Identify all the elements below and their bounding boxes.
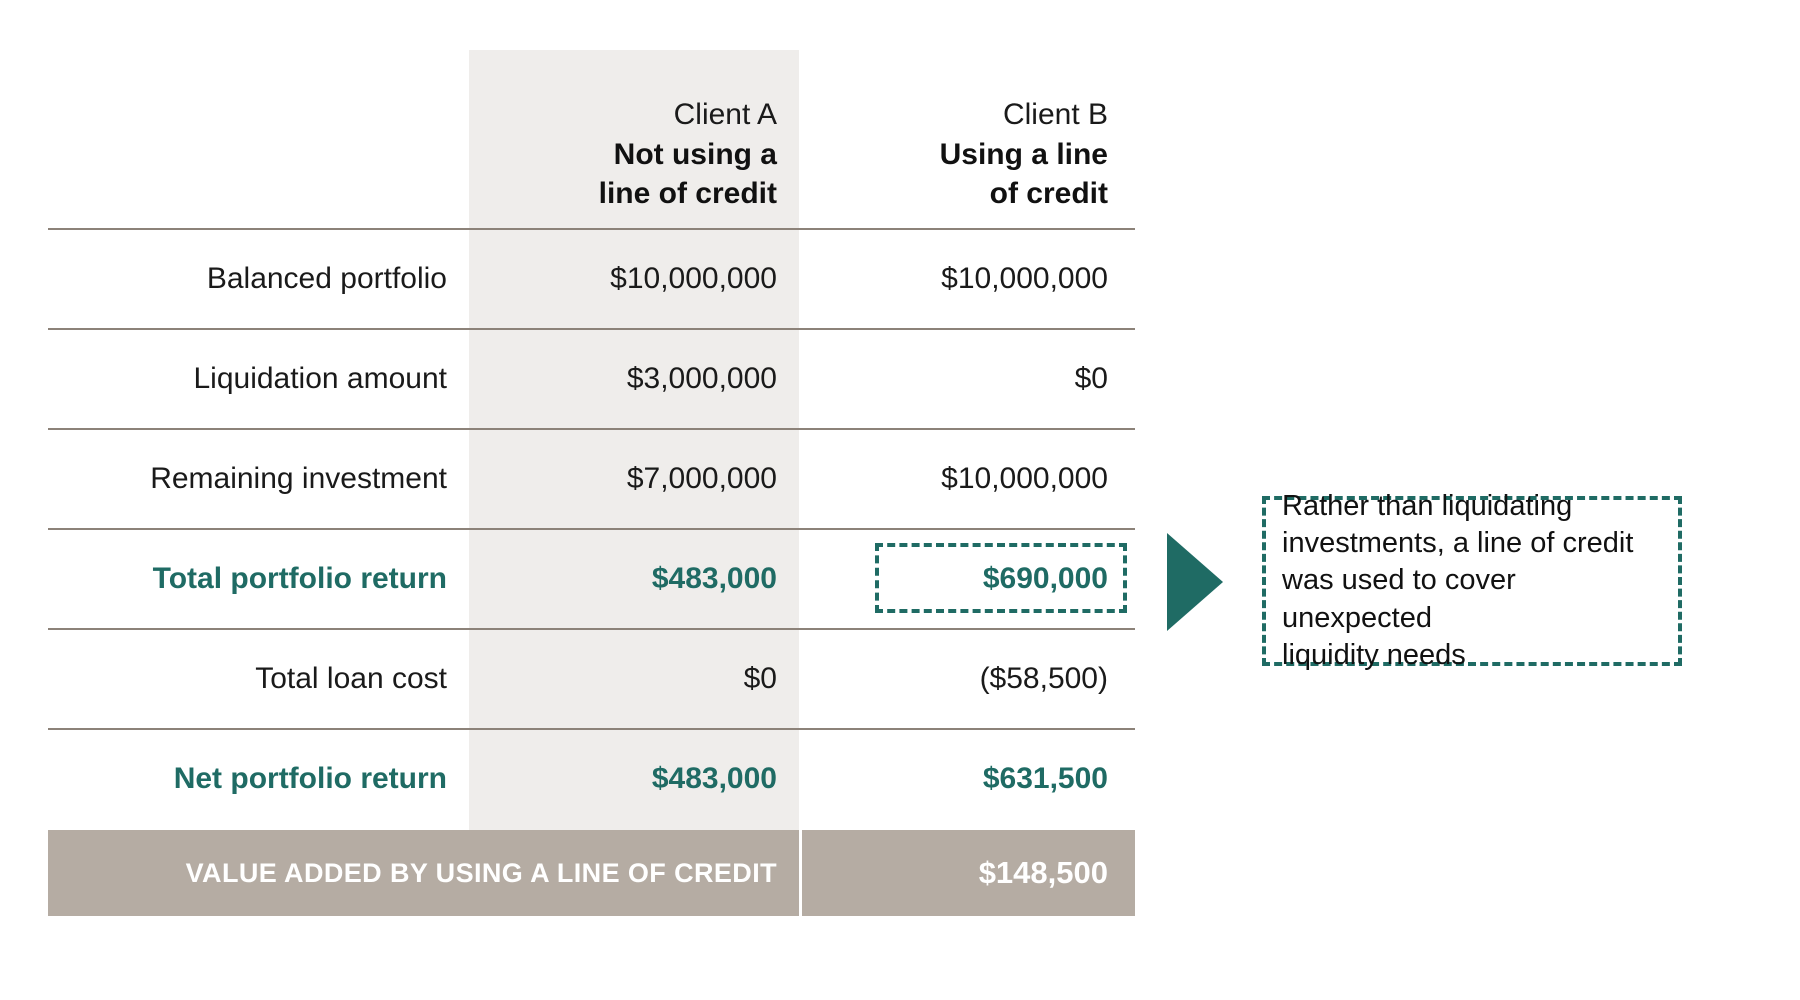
client-a-description-line2: line of credit — [469, 174, 777, 214]
client-a-description-line1: Not using a — [469, 135, 777, 175]
row-value-client-a: $0 — [469, 662, 799, 696]
row-value-client-b: $10,000,000 — [799, 262, 1135, 296]
row-value-client-b: $10,000,000 — [799, 462, 1135, 496]
callout-line-4: liquidity needs — [1282, 637, 1664, 674]
callout-text: Rather than liquidating investments, a l… — [1266, 488, 1678, 674]
dashed-highlight-box-client-b-total — [875, 543, 1127, 613]
table-row: Liquidation amount $3,000,000 $0 — [48, 330, 1135, 428]
row-label: Balanced portfolio — [48, 262, 469, 296]
row-value-client-b: $631,500 — [799, 762, 1135, 796]
row-value-client-a: $483,000 — [469, 562, 799, 596]
callout-box: Rather than liquidating investments, a l… — [1262, 496, 1682, 666]
row-value-client-a: $483,000 — [469, 762, 799, 796]
row-label: Total portfolio return — [48, 562, 469, 596]
arrow-right-icon — [1167, 533, 1223, 631]
column-header-client-b: Client B Using a line of credit — [799, 95, 1135, 228]
value-added-label: VALUE ADDED BY USING A LINE OF CREDIT — [48, 858, 799, 889]
client-b-name: Client B — [799, 95, 1108, 135]
row-value-client-a: $3,000,000 — [469, 362, 799, 396]
client-b-description-line2: of credit — [799, 174, 1108, 214]
row-label: Remaining investment — [48, 462, 469, 496]
table-row: Balanced portfolio $10,000,000 $10,000,0… — [48, 230, 1135, 328]
value-added-summary-bar: VALUE ADDED BY USING A LINE OF CREDIT $1… — [48, 830, 1135, 916]
comparison-table-figure: Client A Not using a line of credit Clie… — [0, 0, 1800, 1000]
callout-line-1: Rather than liquidating — [1282, 488, 1664, 525]
row-label: Liquidation amount — [48, 362, 469, 396]
comparison-table: Client A Not using a line of credit Clie… — [48, 46, 1135, 828]
row-value-client-b: $0 — [799, 362, 1135, 396]
table-row-net-portfolio-return: Net portfolio return $483,000 $631,500 — [48, 730, 1135, 828]
table-row: Total loan cost $0 ($58,500) — [48, 630, 1135, 728]
column-header-client-a: Client A Not using a line of credit — [469, 95, 799, 228]
table-row: Remaining investment $7,000,000 $10,000,… — [48, 430, 1135, 528]
callout-line-2: investments, a line of credit — [1282, 525, 1664, 562]
value-added-amount: $148,500 — [802, 855, 1135, 891]
row-label: Net portfolio return — [48, 762, 469, 796]
client-a-name: Client A — [469, 95, 777, 135]
row-value-client-a: $7,000,000 — [469, 462, 799, 496]
callout-line-3: was used to cover unexpected — [1282, 562, 1664, 636]
row-value-client-a: $10,000,000 — [469, 262, 799, 296]
row-value-client-b: ($58,500) — [799, 662, 1135, 696]
client-b-description-line1: Using a line — [799, 135, 1108, 175]
row-label: Total loan cost — [48, 662, 469, 696]
table-header-row: Client A Not using a line of credit Clie… — [48, 46, 1135, 228]
